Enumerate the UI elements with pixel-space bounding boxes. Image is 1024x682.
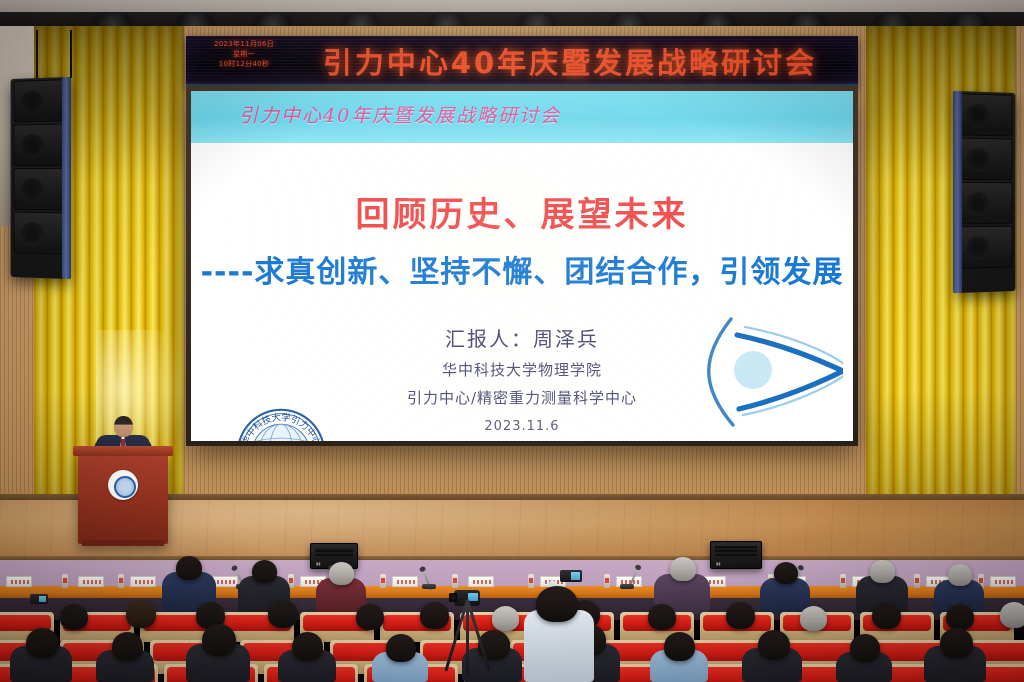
led-date: 2023年11月06日 — [198, 40, 290, 50]
seated-person-head — [670, 557, 696, 581]
water-bottle — [380, 574, 386, 588]
seated-person-head — [329, 562, 354, 585]
water-bottle — [62, 574, 68, 588]
video-camera-on-tripod — [448, 592, 488, 674]
camera-lcd-screen — [468, 593, 478, 601]
audience-head — [112, 632, 143, 661]
orbit-swoosh-icon — [693, 305, 843, 435]
audience-head — [1000, 602, 1024, 628]
handheld-camera — [30, 594, 48, 604]
water-bottle — [118, 574, 124, 588]
tripod-leg — [466, 600, 491, 672]
podium — [78, 452, 168, 544]
name-card — [130, 576, 156, 587]
audience-head — [872, 602, 901, 629]
name-card — [78, 576, 104, 587]
audience-head — [26, 628, 59, 658]
audience-head — [492, 606, 519, 631]
handheld-camera — [560, 570, 582, 582]
svg-text:CGE: CGE — [254, 439, 308, 441]
slide-header-text: 引力中心40年庆暨发展战略研讨会 — [239, 101, 561, 128]
stage-monitor-speaker: ▮▮ — [710, 541, 762, 569]
seated-person-head — [176, 556, 202, 580]
microphone-base — [422, 584, 436, 589]
audience-head — [940, 628, 973, 658]
audience-photographer-head — [536, 586, 578, 622]
name-card — [990, 576, 1016, 587]
slide-body: 回顾历史、展望未来 ----求真创新、坚持不懈、团结合作，引领发展 汇报人：周泽… — [191, 143, 853, 441]
audience-head — [268, 600, 298, 628]
audience-head — [202, 624, 236, 656]
audience-head — [850, 634, 880, 662]
audience-head — [664, 632, 695, 661]
audience-head — [126, 600, 156, 628]
audience-head — [758, 630, 790, 660]
audience-head — [800, 606, 827, 631]
led-banner: 2023年11月06日 星期一 10时12分40秒 引力中心40年庆暨发展战略研… — [186, 36, 858, 88]
audience-head — [420, 602, 449, 629]
water-bottle — [528, 574, 534, 588]
audience-head — [648, 604, 676, 630]
seated-person-head — [774, 562, 798, 584]
water-bottle — [840, 574, 846, 588]
name-card — [468, 576, 494, 587]
name-card — [6, 576, 32, 587]
water-bottle — [604, 574, 610, 588]
led-timestamp: 2023年11月06日 星期一 10时12分40秒 — [198, 40, 290, 70]
hanging-speaker-array-right — [956, 91, 1015, 293]
water-bottle — [914, 574, 920, 588]
microphone-base — [620, 584, 634, 589]
seated-person-head — [252, 560, 277, 583]
led-banner-text: 引力中心40年庆暨发展战略研讨会 — [290, 40, 850, 82]
projection-screen: 引力中心40年庆暨发展战略研讨会 回顾历史、展望未来 ----求真创新、坚持不懈… — [191, 91, 853, 441]
audience-head — [726, 602, 755, 629]
speaker-wire — [70, 30, 72, 78]
hust-emblem-icon — [108, 470, 138, 500]
speaker-wire — [36, 30, 38, 78]
camera-lens-icon — [449, 593, 457, 602]
audience-head — [386, 634, 416, 662]
led-time: 10时12分40秒 — [198, 60, 290, 70]
seated-person-head — [948, 564, 972, 586]
hanging-speaker-array-left — [11, 77, 70, 279]
conference-photo: 2023年11月06日 星期一 10时12分40秒 引力中心40年庆暨发展战略研… — [0, 0, 1024, 682]
audience-head — [356, 604, 384, 630]
water-bottle — [452, 574, 458, 588]
led-weekday: 星期一 — [198, 50, 290, 60]
slide-subtitle: ----求真创新、坚持不懈、团结合作，引领发展 — [191, 247, 853, 291]
audience-head — [946, 604, 974, 630]
slide-title: 回顾历史、展望未来 — [191, 187, 853, 236]
name-card — [392, 576, 418, 587]
cge-logo-icon: 华中科技大学引力中心 Huazhong University of Scienc… — [233, 405, 329, 441]
seated-person-head — [870, 560, 895, 583]
audience-head — [292, 632, 323, 661]
audience-head — [60, 604, 88, 630]
projection-screen-frame: 引力中心40年庆暨发展战略研讨会 回顾历史、展望未来 ----求真创新、坚持不懈… — [186, 86, 858, 446]
